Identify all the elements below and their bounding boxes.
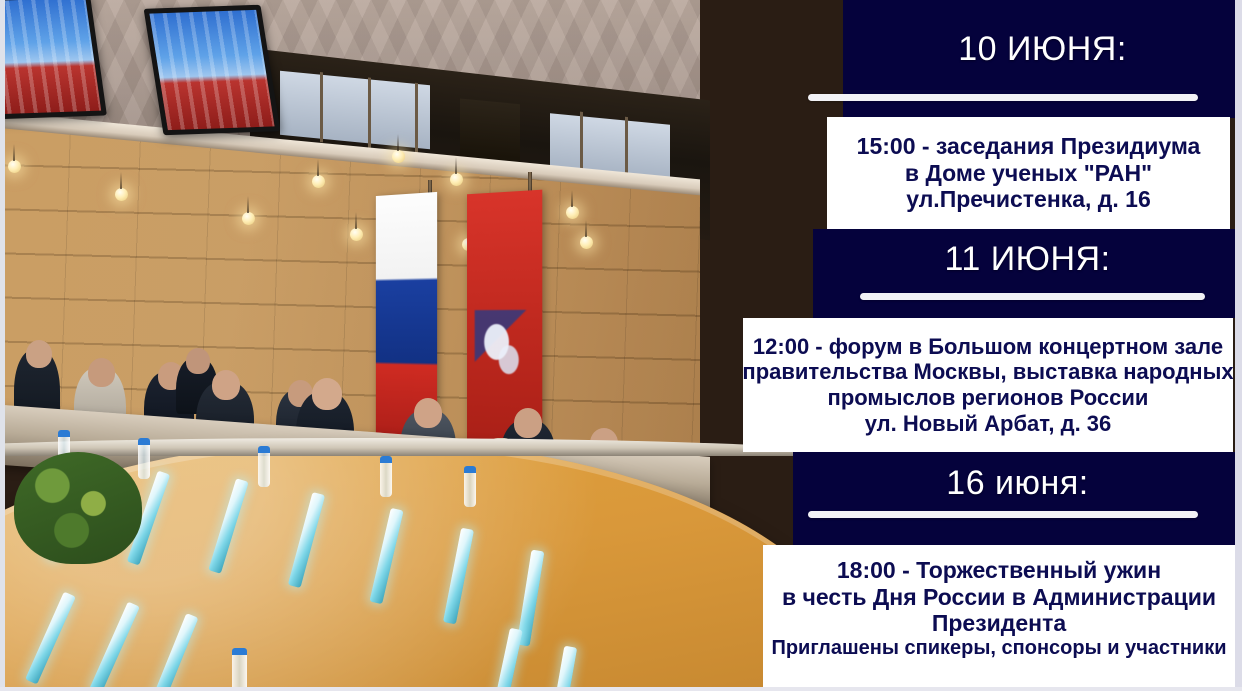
event-line: правительства Москвы, выставка народных — [742, 359, 1233, 385]
water-bottle — [380, 456, 392, 497]
date-heading-1: 10 ИЮНЯ: — [843, 30, 1242, 69]
event-line: 18:00 - Торжественный ужин — [837, 557, 1161, 584]
event-line: Приглашены спикеры, спонсоры и участники — [771, 637, 1226, 660]
person-head — [26, 340, 52, 368]
date-heading-3: 16 июня: — [793, 464, 1242, 503]
ceiling-lamp — [8, 160, 21, 173]
ceiling-lamp — [566, 206, 579, 219]
event-line: 15:00 - заседания Президиума — [857, 133, 1201, 160]
tv-monitor — [144, 5, 281, 136]
mullion — [415, 83, 418, 153]
ceiling-lamp — [242, 212, 255, 225]
water-bottle — [232, 648, 247, 691]
person-head — [212, 370, 240, 400]
event-box-2: 12:00 - форум в Большом концертном зале … — [743, 318, 1233, 452]
mullion — [580, 112, 583, 176]
divider-rule-1 — [808, 94, 1198, 101]
water-bottle — [464, 466, 476, 507]
person-head — [414, 398, 442, 428]
event-box-3: 18:00 - Торжественный ужин в честь Дня Р… — [763, 545, 1235, 691]
ceiling-lamp — [450, 173, 463, 186]
tv-screen — [0, 0, 101, 114]
ceiling-lamp — [312, 175, 325, 188]
mullion — [368, 77, 371, 147]
person-head — [312, 378, 342, 410]
divider-rule-2 — [860, 293, 1205, 300]
mullion — [320, 72, 323, 142]
event-line: 12:00 - форум в Большом концертном зале — [753, 334, 1223, 360]
bottom-edge-seam — [0, 687, 1242, 691]
ceiling-lamp — [392, 150, 405, 163]
date-heading-2: 11 ИЮНЯ: — [813, 240, 1242, 279]
tv-monitor — [0, 0, 107, 119]
moscow-emblem — [475, 310, 530, 391]
event-line: ул.Пречистенка, д. 16 — [906, 186, 1151, 213]
event-line: в Доме ученых "РАН" — [905, 160, 1152, 187]
ceiling-lamp — [115, 188, 128, 201]
potted-plant — [14, 452, 142, 564]
event-line: ул. Новый Арбат, д. 36 — [865, 411, 1112, 437]
person-head — [88, 358, 115, 387]
ceiling-lamp — [350, 228, 363, 241]
slide-root: 10 ИЮНЯ: 15:00 - заседания Президиума в … — [0, 0, 1242, 691]
event-line: Президента — [932, 610, 1066, 637]
person-head — [514, 408, 542, 438]
water-bottle — [138, 438, 150, 479]
event-box-1: 15:00 - заседания Президиума в Доме учен… — [827, 117, 1230, 229]
person-head — [186, 348, 210, 374]
window-pane — [460, 98, 520, 162]
event-line: промыслов регионов России — [828, 385, 1149, 411]
left-edge-seam — [0, 0, 5, 691]
ceiling-lamp — [580, 236, 593, 249]
right-edge-seam — [1235, 0, 1242, 691]
water-bottle — [258, 446, 270, 487]
tv-screen — [149, 10, 274, 130]
window-pane — [280, 71, 430, 149]
event-line: в честь Дня России в Администрации — [782, 584, 1216, 611]
divider-rule-3 — [808, 511, 1198, 518]
schedule-panel: 10 ИЮНЯ: 15:00 - заседания Президиума в … — [695, 0, 1242, 691]
